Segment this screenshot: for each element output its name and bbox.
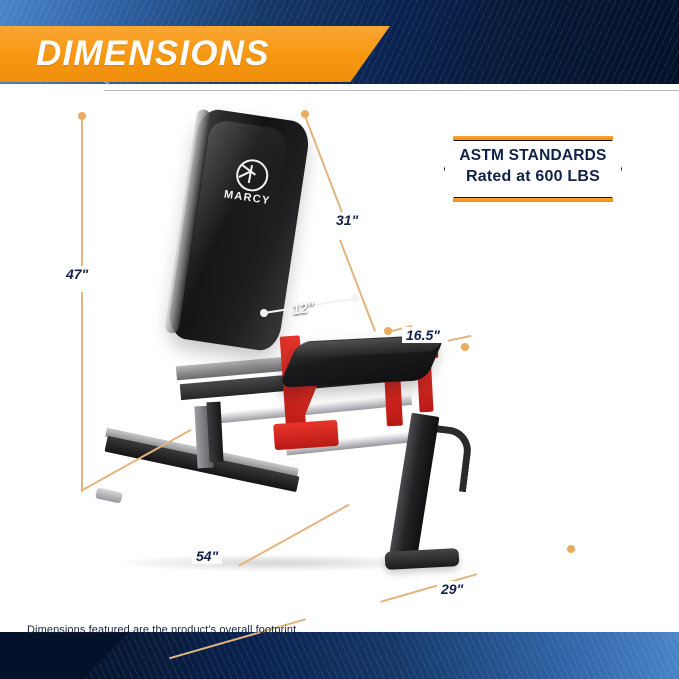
- dimension-label-length: 54": [192, 548, 222, 564]
- footer-note: Dimensions featured are the product's ov…: [27, 624, 299, 636]
- rear-foot-plate: [385, 548, 460, 570]
- page-title: DIMENSIONS: [36, 31, 270, 77]
- guide-dot-backrest: [301, 110, 309, 118]
- front-upright-shadow: [206, 402, 223, 463]
- bottom-decorative-band: [0, 631, 679, 679]
- guide-dot-seat-depth-end: [461, 343, 469, 351]
- dimensions-infographic: DIMENSIONS ASTM STANDARDS Rated at 600 L…: [0, 0, 679, 679]
- marcy-logo: MARCY: [221, 156, 275, 220]
- badge-line-1: ASTM STANDARDS: [444, 147, 622, 165]
- badge-accent-bar-top: [453, 136, 613, 140]
- header-banner: DIMENSIONS: [0, 26, 400, 86]
- guide-dot-seat-depth-start: [384, 327, 392, 335]
- header-rule: [0, 88, 679, 98]
- dimension-label-height: 47": [62, 266, 92, 282]
- front-foot-end-cap: [95, 487, 123, 503]
- guide-line-height-lower: [81, 292, 83, 492]
- red-bracket-base: [273, 420, 339, 450]
- guide-dot-height: [78, 112, 86, 120]
- badge-accent-bar-bottom: [453, 198, 613, 202]
- backrest-pad: MARCY: [166, 107, 311, 353]
- dimension-label-width: 29": [437, 581, 467, 597]
- header-rule-line: [104, 90, 679, 91]
- guide-line-height-upper: [81, 118, 83, 266]
- astm-standards-badge: ASTM STANDARDS Rated at 600 LBS: [444, 140, 622, 198]
- brand-wordmark: MARCY: [223, 188, 270, 207]
- dimension-label-pad-width: 12": [291, 298, 315, 317]
- dimension-label-seat-depth: 16.5": [402, 327, 444, 343]
- dimension-label-backrest: 31": [332, 212, 362, 228]
- guide-dot-width: [567, 545, 575, 553]
- badge-line-2: Rated at 600 LBS: [444, 168, 622, 186]
